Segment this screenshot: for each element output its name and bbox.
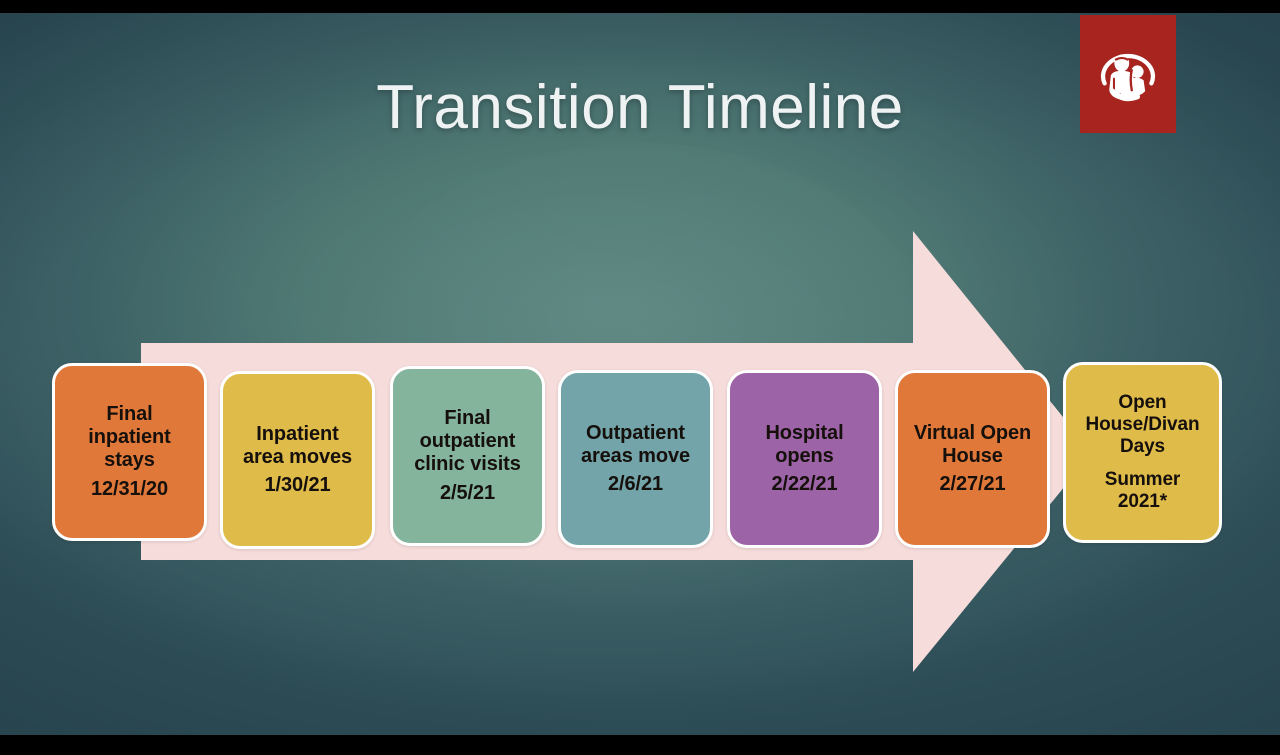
timeline-item-7[interactable]: OpenHouse/DivanDays Summer2021* <box>1063 362 1222 543</box>
timeline-item-3-label: Finaloutpatientclinic visits <box>414 407 521 475</box>
slide-root: Transition Timeline <box>0 0 1280 755</box>
timeline-item-1-label: Finalinpatientstays <box>88 403 170 471</box>
timeline-item-2[interactable]: Inpatientarea moves 1/30/21 <box>220 371 375 549</box>
timeline-item-5-label: Hospitalopens <box>765 422 843 468</box>
timeline-item-6[interactable]: Virtual OpenHouse 2/27/21 <box>895 370 1050 548</box>
logo-mark-icon <box>1089 35 1167 113</box>
hospital-logo <box>1080 15 1176 133</box>
slide-canvas: Transition Timeline <box>0 13 1280 735</box>
letterbox-bar-top <box>0 0 1280 13</box>
timeline-item-4[interactable]: Outpatientareas move 2/6/21 <box>558 370 713 548</box>
timeline-item-3-date: 2/5/21 <box>440 482 495 505</box>
letterbox-bar-bottom <box>0 735 1280 755</box>
timeline-item-2-label: Inpatientarea moves <box>243 423 352 469</box>
timeline-item-6-date: 2/27/21 <box>939 473 1005 496</box>
timeline-item-1[interactable]: Finalinpatientstays 12/31/20 <box>52 363 207 541</box>
timeline-item-7-label: OpenHouse/DivanDays <box>1086 392 1200 457</box>
timeline-item-3[interactable]: Finaloutpatientclinic visits 2/5/21 <box>390 366 545 546</box>
timeline-item-7-date: Summer2021* <box>1105 469 1180 512</box>
timeline-item-5[interactable]: Hospitalopens 2/22/21 <box>727 370 882 548</box>
timeline-item-1-date: 12/31/20 <box>91 478 168 501</box>
timeline-item-5-date: 2/22/21 <box>771 473 837 496</box>
timeline-item-4-label: Outpatientareas move <box>581 422 690 468</box>
timeline-item-4-date: 2/6/21 <box>608 473 663 496</box>
timeline-item-2-date: 1/30/21 <box>264 474 330 497</box>
timeline-item-6-label: Virtual OpenHouse <box>914 422 1031 468</box>
